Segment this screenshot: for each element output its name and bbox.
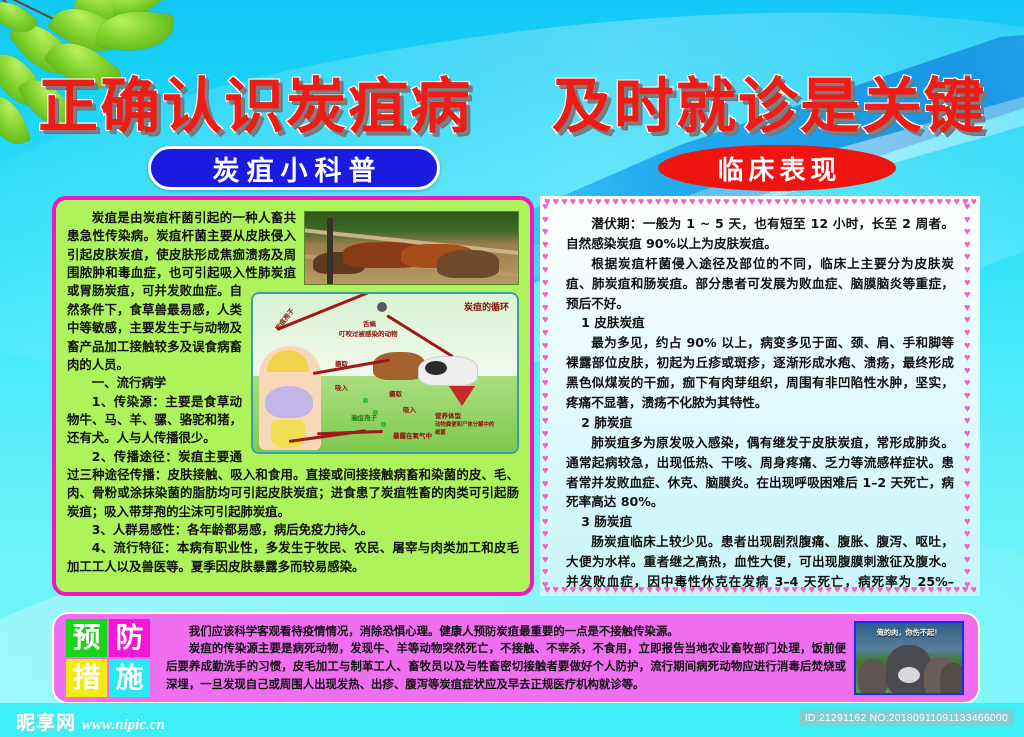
diagram-label-ingest-1: 摄取 <box>335 358 348 368</box>
prevention-badge-char-4: 施 <box>109 659 150 697</box>
image-id-tag: ID:21291162 NO:20180911091133466000 <box>799 710 1014 726</box>
panel-science: 炭疽的循环 舌蝇 叮咬过被感染的动物 炭疽孢子 摄取 吸入 摄取 吸入 炭疽孢子… <box>52 196 534 596</box>
prevention-badge-char-3: 措 <box>66 659 107 697</box>
science-paragraph-4: 2、传播途径：炭疽主要通过三种途径传播：皮肤接触、吸入和食用。直接或间接接触病畜… <box>67 448 519 521</box>
diagram-label-vegetative: 营养体型 <box>435 410 461 420</box>
diagram-label-bite: 叮咬过被感染的动物 <box>339 328 398 338</box>
panel-prevention: 预 防 措 施 我们应该科学客观看待疫情情况，消除恐惧心理。健康人预防炭疽最重要… <box>52 612 980 704</box>
watermark-site-name: 昵享网 <box>16 708 76 735</box>
prevention-paragraph-2: 炭疽的传染源主要是病死动物，发现牛、羊等动物突然死亡，不接触、不宰杀，不食用，立… <box>166 640 846 693</box>
footer-bar: 昵享网 www.nipic.cn ID:21291162 NO:20180911… <box>0 703 1024 737</box>
prevention-paragraph-1: 我们应该科学客观看待疫情情况，消除恐惧心理。健康人预防炭疽最重要的一点是不接触传… <box>166 623 846 641</box>
poster-canvas: 正确认识炭疽病 及时就诊是关键 炭疽小科普 临床表现 炭疽的循环 舌蝇 叮咬过被… <box>0 0 1024 737</box>
cattle-photo: 俺的肉，你伤不起！ <box>854 621 964 695</box>
clinical-paragraph-2: 根据炭疽杆菌侵入途径及部位的不同，临床上主要分为皮肤炭疽、肺炭疽和肠炭疽。部分患… <box>566 254 954 314</box>
clinical-subheading-1: 1 皮肤炭疽 <box>566 313 954 333</box>
science-paragraph-5: 3、人群易感性：各年龄都易感，病后免疫力持久。 <box>67 521 519 539</box>
diagram-label-vegetative-detail: 动物粪便和尸体分解中的细菌 <box>435 420 497 436</box>
panel-clinical: ♥♥♥♥♥♥♥♥♥♥♥♥♥♥♥♥♥♥♥♥♥♥♥♥♥♥♥♥♥♥♥♥♥♥♥♥♥♥♥♥… <box>540 196 980 596</box>
clinical-paragraph-3: 最为多见，约占 90% 以上，病变多见于面、颈、肩、手和脚等裸露部位皮肤，初起为… <box>566 333 954 413</box>
prevention-badge-char-2: 防 <box>109 619 150 657</box>
clinical-paragraph-1: 潜伏期：一般为 1 ~ 5 天，也有短至 12 小时，长至 2 周者。自然感染炭… <box>566 214 954 254</box>
section-heading-science-label: 炭疽小科普 <box>206 149 383 188</box>
watermark-url: www.nipic.cn <box>82 717 165 734</box>
diagram-label-inhale-2: 吸入 <box>403 404 416 414</box>
cattle-photo-caption: 俺的肉，你伤不起！ <box>856 628 962 638</box>
diagram-title: 炭疽的循环 <box>464 300 509 313</box>
heart-border-top: ♥♥♥♥♥♥♥♥♥♥♥♥♥♥♥♥♥♥♥♥♥♥♥♥♥♥♥♥♥♥♥♥♥♥♥♥♥♥♥♥… <box>544 197 976 207</box>
section-heading-science: 炭疽小科普 <box>148 146 440 190</box>
title-part-1: 正确认识炭疽病 <box>38 72 472 142</box>
prevention-badge: 预 防 措 施 <box>66 619 150 697</box>
heart-border-right: ♥♥♥♥♥♥♥♥♥♥ ♥♥♥♥♥♥♥♥♥♥ ♥♥♥♥♥♥♥♥♥♥ ♥ <box>964 202 978 590</box>
prevention-text: 我们应该科学客观看待疫情情况，消除恐惧心理。健康人预防炭疽最重要的一点是不接触传… <box>150 623 854 694</box>
section-heading-clinical-label: 临床表现 <box>712 150 841 187</box>
science-paragraph-6: 4、流行特征：本病有职业性，多发生于牧民、农民、屠宰与肉类加工和皮毛加工工人以及… <box>67 539 519 576</box>
diagram-label-spores: 炭疽孢子 <box>351 412 377 422</box>
clinical-paragraph-4: 肺炭疽多为原发吸入感染，偶有继发于皮肤炭疽，常形成肺炎。通常起病较急，出现低热、… <box>566 433 954 513</box>
diagram-label-fly: 舌蝇 <box>363 318 376 328</box>
diagram-label-ingest-2: 摄取 <box>389 388 402 398</box>
poster-title: 正确认识炭疽病 及时就诊是关键 <box>0 58 1024 145</box>
diagram-label-inhale-1: 吸入 <box>335 382 348 392</box>
watermark: 昵享网 www.nipic.cn <box>16 708 165 735</box>
title-part-2: 及时就诊是关键 <box>552 72 986 142</box>
livestock-photo <box>304 211 519 285</box>
clinical-paragraph-5: 肠炭疽临床上较少见。患者出现剧烈腹痛、腹胀、腹泻、呕吐，大便为水样。重者继之高热… <box>566 532 954 596</box>
prevention-badge-char-1: 预 <box>66 619 107 657</box>
heart-border-left: ♥♥♥♥♥♥♥♥♥♥ ♥♥♥♥♥♥♥♥♥♥ ♥♥♥♥♥♥♥♥♥♥ ♥ <box>542 202 556 590</box>
section-heading-clinical: 临床表现 <box>658 145 896 191</box>
clinical-subheading-2: 2 肺炭疽 <box>566 413 954 433</box>
clinical-subheading-3: 3 肠炭疽 <box>566 512 954 532</box>
anthrax-cycle-diagram: 炭疽的循环 舌蝇 叮咬过被感染的动物 炭疽孢子 摄取 吸入 摄取 吸入 炭疽孢子… <box>251 292 519 454</box>
diagram-label-oxygen: 暴露在氧气中 <box>393 430 432 440</box>
